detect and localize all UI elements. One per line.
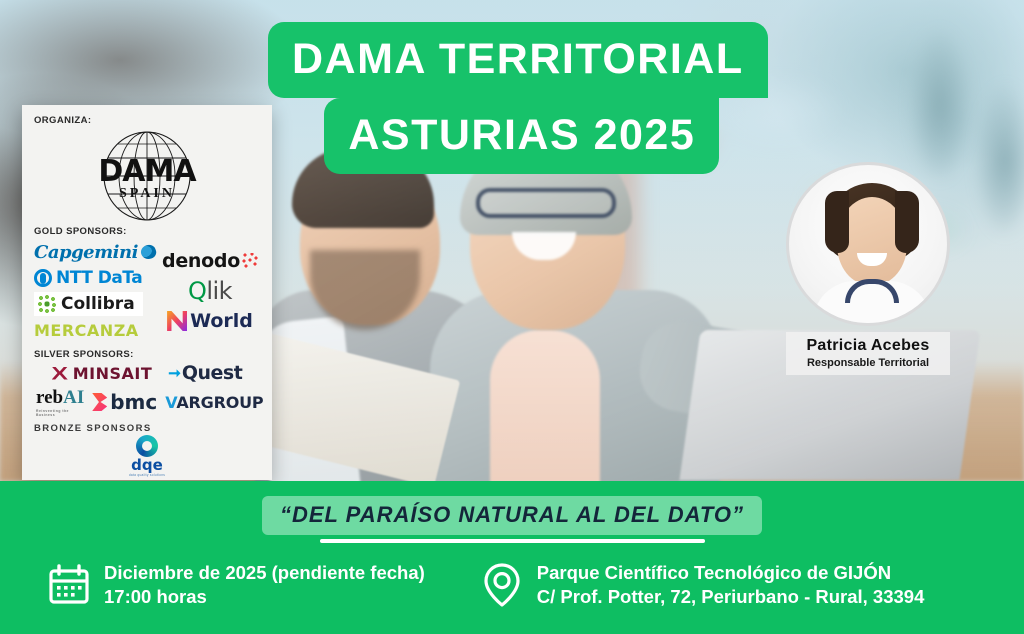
- collibra-dots-icon: [38, 295, 56, 313]
- event-location-line-2: C/ Prof. Potter, 72, Periurbano - Rural,…: [537, 585, 925, 609]
- sponsor-logo-mercanza: MERCANZA: [34, 317, 156, 343]
- sponsor-logo-dqe: dqe data quality solutions: [34, 435, 260, 477]
- denodo-wordmark: denodo: [162, 250, 240, 272]
- dqe-wordmark: dqe: [131, 458, 163, 473]
- sponsor-logo-qlik: Qlik: [188, 278, 232, 304]
- sponsor-panel: ORGANIZA: DAMA SPAIN GOLD SPONSORS: Capg…: [22, 105, 272, 480]
- speaker-hair-right: [895, 191, 919, 253]
- event-tagline: “DEL PARAÍSO NATURAL AL DEL DATO”: [262, 496, 762, 535]
- dqe-ring-icon: [136, 435, 158, 457]
- speaker-card: Patricia Acebes Responsable Territorial: [786, 162, 950, 375]
- bronze-sponsors-label: BRONZE SPONSORS: [34, 423, 260, 434]
- sponsor-logo-ntt-data: NTT DaTa: [34, 265, 156, 291]
- gold-sponsors-left-column: Capgemini NTT DaTa Collibra MERCANZA: [34, 239, 156, 343]
- rebai-ai-part: AI: [63, 387, 84, 408]
- quest-arrow-icon: ➞: [168, 364, 181, 382]
- event-location-text: Parque Científico Tecnológico de GIJÓN C…: [537, 561, 925, 610]
- silver-row-2: rebAI Reinventing the Business bmc VARGR…: [34, 387, 260, 417]
- event-poster: DAMA TERRITORIAL ASTURIAS 2025 ORGANIZA:…: [0, 0, 1024, 634]
- event-location-block: Parque Científico Tecnológico de GIJÓN C…: [481, 561, 925, 610]
- n-world-wordmark: World: [190, 310, 253, 332]
- vargroup-v-accent: V: [165, 393, 176, 412]
- calendar-icon: [48, 564, 90, 606]
- dama-wordmark: DAMA: [83, 154, 211, 189]
- sponsor-logo-vargroup: VARGROUP: [165, 393, 263, 412]
- dama-spain-logo: DAMA SPAIN: [83, 130, 211, 222]
- speaker-avatar: [786, 162, 950, 326]
- sponsor-logo-denodo: denodo: [162, 248, 258, 274]
- event-date-line-1: Diciembre de 2025 (pendiente fecha): [104, 561, 425, 585]
- silver-sponsors-label: SILVER SPONSORS:: [34, 349, 260, 360]
- qlik-wordmark: Qlik: [188, 277, 232, 305]
- mercanza-wordmark: MERCANZA: [34, 321, 139, 340]
- event-date-line-2: 17:00 horas: [104, 585, 425, 609]
- footer-bar: “DEL PARAÍSO NATURAL AL DEL DATO”: [0, 481, 1024, 634]
- tagline-row: “DEL PARAÍSO NATURAL AL DEL DATO”: [0, 496, 1024, 535]
- sponsor-logo-quest: ➞ Quest: [168, 362, 242, 384]
- gold-sponsors-right-column: denodo Qlik World: [160, 239, 260, 343]
- ntt-circle-icon: [34, 269, 52, 287]
- event-date-text: Diciembre de 2025 (pendiente fecha) 17:0…: [104, 561, 425, 610]
- minsait-x-icon: [52, 367, 68, 380]
- footer-divider: [320, 539, 705, 543]
- sponsor-logo-bmc: bmc: [92, 390, 157, 414]
- collibra-wordmark: Collibra: [61, 294, 135, 314]
- bmc-mark-icon: [92, 393, 107, 411]
- speaker-name: Patricia Acebes: [790, 337, 946, 355]
- title-line-2: ASTURIAS 2025: [324, 98, 719, 174]
- speaker-hair-left: [825, 191, 849, 253]
- capgemini-wordmark: Capgemini: [34, 242, 138, 263]
- event-details-row: Diciembre de 2025 (pendiente fecha) 17:0…: [0, 561, 1024, 610]
- sponsor-logo-rebai: rebAI Reinventing the Business: [36, 387, 84, 417]
- speaker-name-box: Patricia Acebes Responsable Territorial: [786, 332, 950, 375]
- minsait-wordmark: MINSAIT: [73, 364, 153, 383]
- dqe-tagline: data quality solutions: [129, 473, 165, 477]
- map-pin-icon: [481, 562, 523, 608]
- bmc-wordmark: bmc: [110, 390, 157, 414]
- rebai-tagline: Reinventing the Business: [36, 409, 84, 417]
- silver-row-1: MINSAIT ➞ Quest: [34, 362, 260, 384]
- sponsor-logo-n-world: World: [167, 308, 253, 334]
- event-date-block: Diciembre de 2025 (pendiente fecha) 17:0…: [48, 561, 425, 610]
- quest-wordmark: Quest: [182, 362, 242, 384]
- collibra-chip: Collibra: [34, 292, 143, 316]
- n-world-mark-icon: [167, 311, 187, 331]
- event-location-line-1: Parque Científico Tecnológico de GIJÓN: [537, 561, 925, 585]
- organiza-label: ORGANIZA:: [34, 115, 260, 126]
- sponsor-logo-capgemini: Capgemini: [34, 239, 156, 265]
- speaker-role: Responsable Territorial: [790, 357, 946, 369]
- sponsor-logo-minsait: MINSAIT: [52, 364, 153, 383]
- event-title: DAMA TERRITORIAL ASTURIAS 2025: [268, 22, 768, 174]
- silver-sponsors-grid: MINSAIT ➞ Quest rebAI Reinventing the Bu…: [34, 362, 260, 417]
- capgemini-swirl-icon: [139, 243, 158, 261]
- denodo-dots-icon: [242, 253, 258, 269]
- title-line-1: DAMA TERRITORIAL: [268, 22, 768, 98]
- gold-sponsors-grid: Capgemini NTT DaTa Collibra MERCANZA: [34, 239, 260, 343]
- ntt-data-wordmark: NTT DaTa: [56, 268, 142, 288]
- gold-sponsors-label: GOLD SPONSORS:: [34, 226, 260, 237]
- sponsor-logo-collibra: Collibra: [34, 291, 156, 317]
- dama-spain-subtitle: SPAIN: [83, 186, 211, 202]
